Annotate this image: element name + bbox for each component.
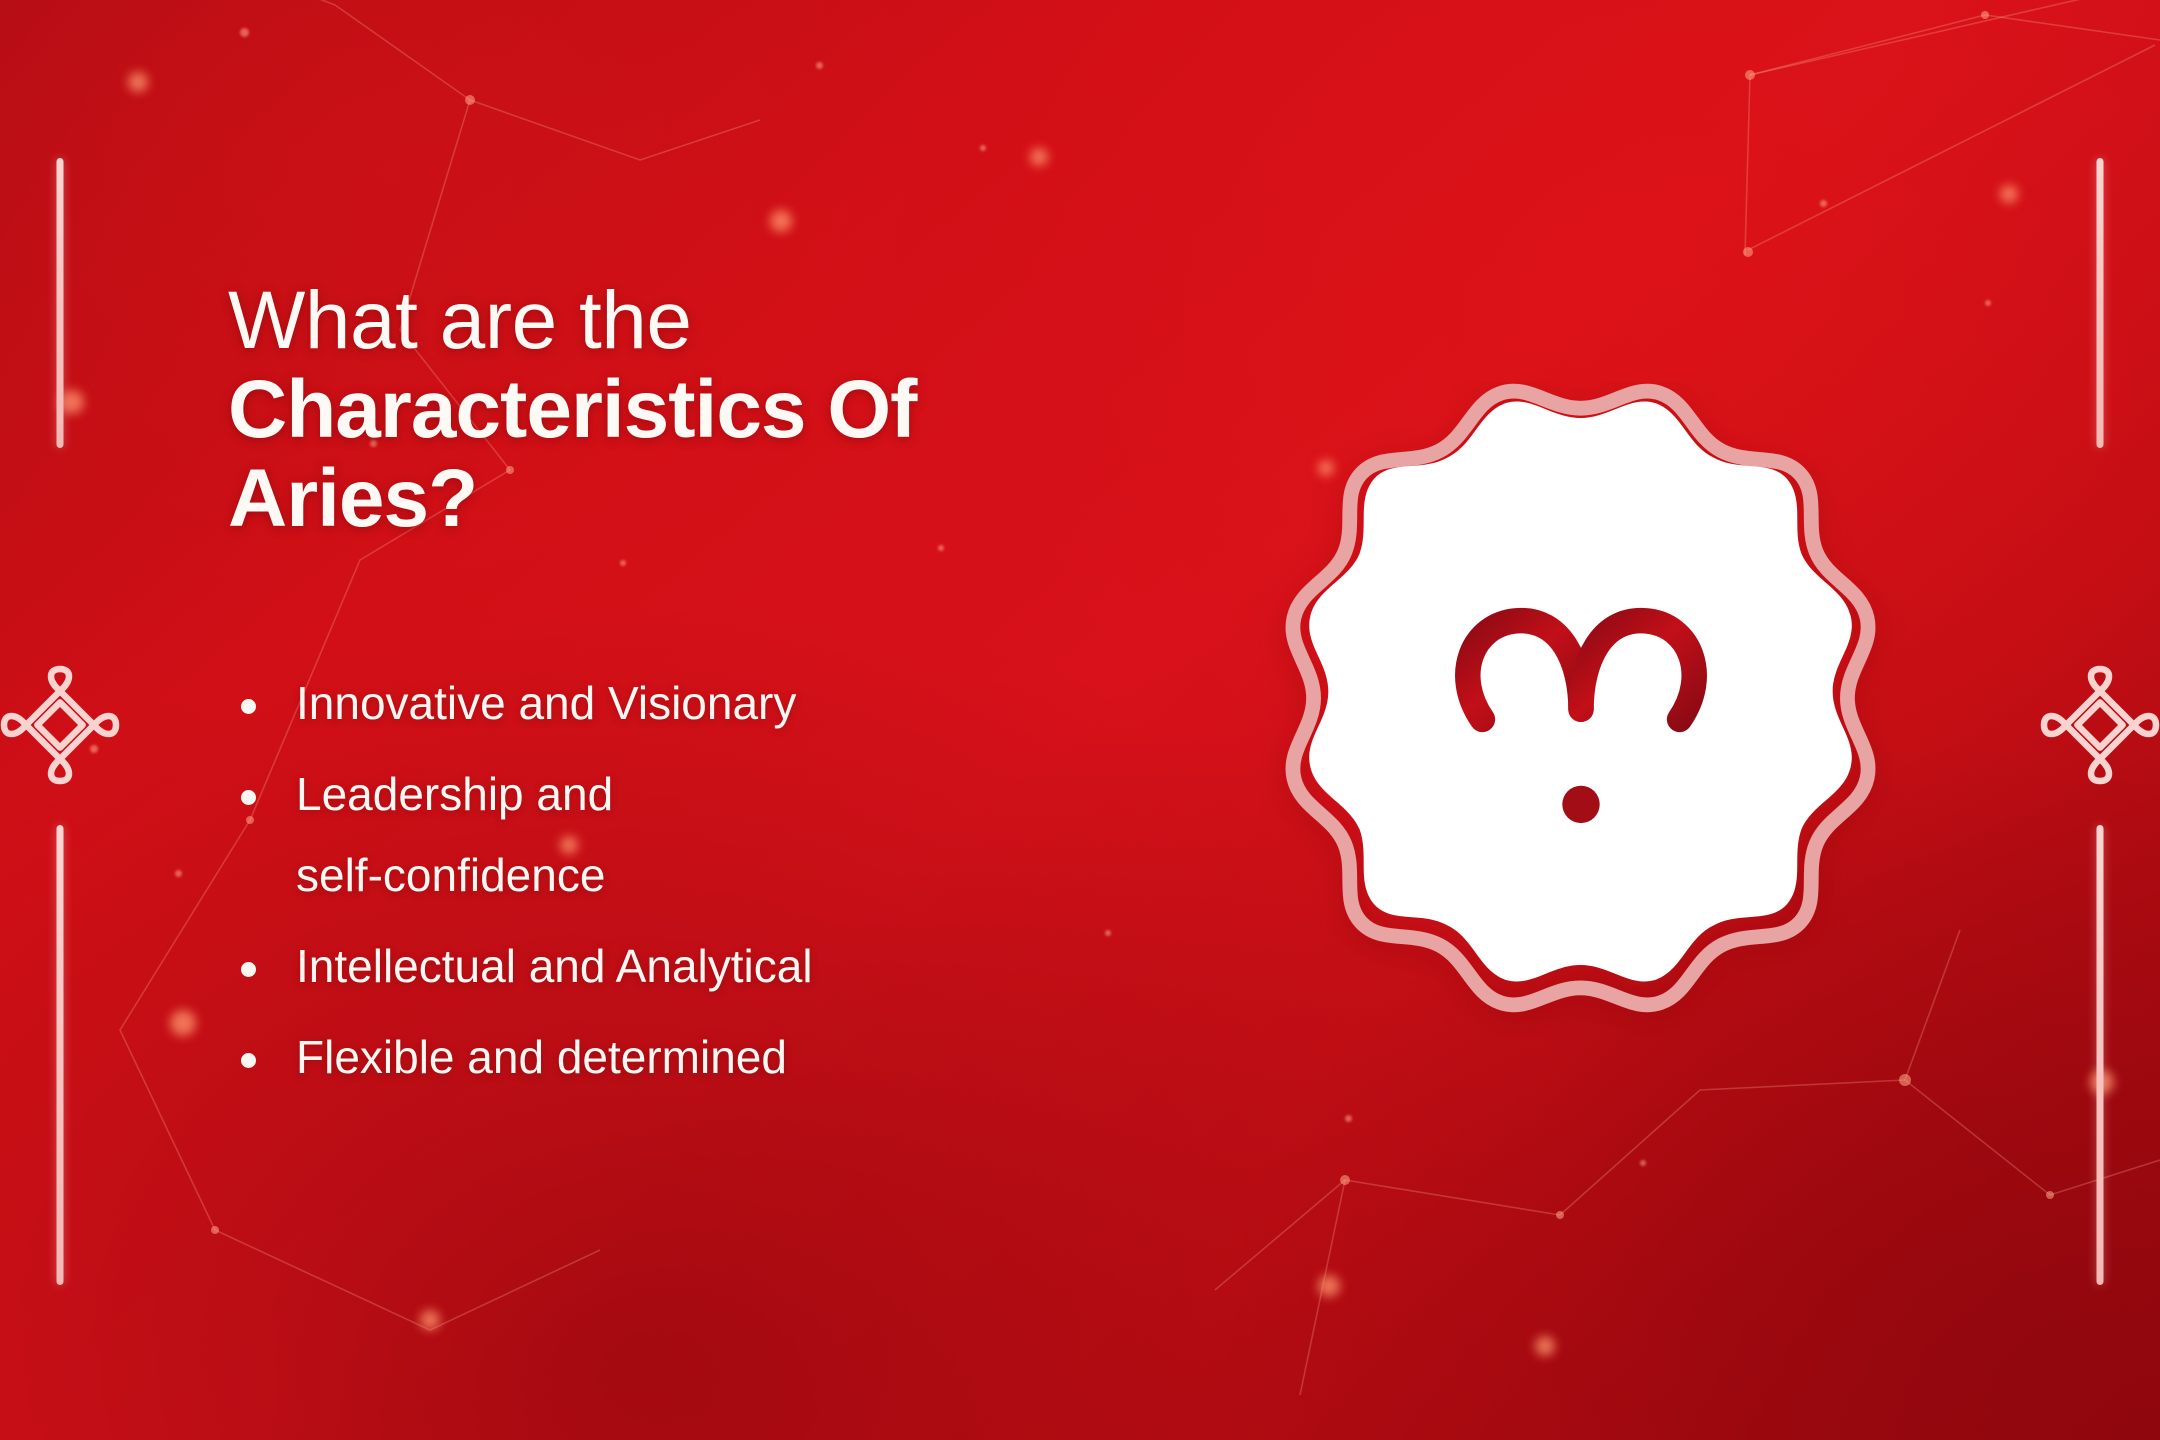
left-rail-decoration: [0, 0, 120, 1440]
bullet-dot-icon: [241, 790, 256, 805]
aries-badge: [1253, 382, 1908, 1037]
endless-knot-icon: [2040, 665, 2160, 785]
rail-line-top: [57, 158, 64, 448]
list-item-label: Leadership and: [296, 768, 613, 820]
aries-zodiac-glyph-icon: [1411, 546, 1751, 886]
list-item: Intellectual and Analytical: [228, 943, 1148, 989]
title-line-light: What are the: [228, 277, 1208, 366]
rail-line-bottom: [57, 825, 64, 1285]
title-line-bold-1: Characteristics Of: [228, 366, 1208, 455]
bullet-dot-icon: [241, 962, 256, 977]
right-rail-decoration: [2040, 0, 2160, 1440]
content-column: What are the Characteristics Of Aries? I…: [228, 0, 1208, 1440]
rail-line-top: [2097, 158, 2104, 448]
slide-canvas: What are the Characteristics Of Aries? I…: [0, 0, 2160, 1440]
list-item-label-line2: self-confidence: [296, 852, 1148, 898]
title-line-bold-2: Aries?: [228, 455, 1208, 544]
list-item: Innovative and Visionary: [228, 680, 1148, 726]
list-item-label: Innovative and Visionary: [296, 677, 796, 729]
rail-line-bottom: [2097, 825, 2104, 1285]
list-item-label: Flexible and determined: [296, 1031, 787, 1083]
characteristics-list: Innovative and Visionary Leadership and …: [228, 680, 1148, 1125]
endless-knot-icon: [0, 665, 120, 785]
bullet-dot-icon: [241, 699, 256, 714]
list-item: Leadership and self-confidence: [228, 771, 1148, 898]
list-item: Flexible and determined: [228, 1034, 1148, 1080]
page-title: What are the Characteristics Of Aries?: [228, 277, 1208, 544]
bullet-dot-icon: [241, 1053, 256, 1068]
list-item-label: Intellectual and Analytical: [296, 940, 813, 992]
